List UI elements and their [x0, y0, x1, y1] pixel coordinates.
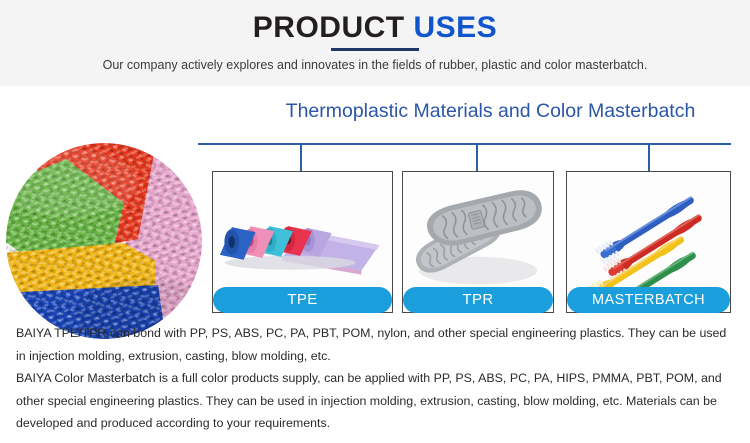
connector-vertical-line-masterbatch [648, 143, 650, 172]
page-title-part-uses: USES [413, 11, 497, 44]
title-underline-divider [331, 48, 419, 51]
product-card-tpr[interactable]: TPR [402, 171, 554, 313]
description-block: BAIYA TPE/TPR can bond with PP, PS, ABS,… [16, 322, 738, 435]
description-paragraph-1: BAIYA TPE/TPR can bond with PP, PS, ABS,… [16, 322, 738, 367]
product-card-tpe[interactable]: TPE [212, 171, 393, 313]
section-heading: Thermoplastic Materials and Color Master… [238, 98, 743, 124]
product-label-tpe: TPE [213, 287, 392, 313]
color-pellets-circle-image [6, 143, 202, 339]
page-title-part-product: PRODUCT [253, 11, 405, 44]
connector-horizontal-line [198, 143, 731, 145]
page-title: PRODUCT USES [0, 11, 750, 45]
color-pellets-illustration [6, 143, 202, 339]
product-label-masterbatch: MASTERBATCH [567, 287, 730, 313]
page-subtitle: Our company actively explores and innova… [0, 56, 750, 74]
product-label-tpr: TPR [403, 287, 553, 313]
connector-vertical-line-tpe [300, 143, 302, 172]
connector-vertical-line-tpr [476, 143, 478, 172]
product-card-masterbatch[interactable]: MASTERBATCH [566, 171, 731, 313]
description-paragraph-2: BAIYA Color Masterbatch is a full color … [16, 367, 738, 435]
